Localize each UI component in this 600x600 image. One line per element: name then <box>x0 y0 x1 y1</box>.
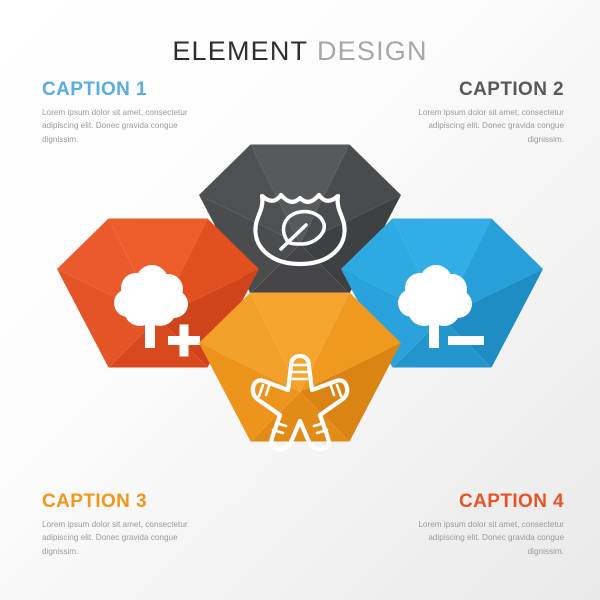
caption-block-2: CAPTION 2 Lorem ipsum dolor sit amet, co… <box>414 80 564 146</box>
caption-4-body: Lorem ipsum dolor sit amet, consectetur … <box>414 518 564 558</box>
caption-1-body: Lorem ipsum dolor sit amet, consectetur … <box>42 106 192 146</box>
caption-2-body: Lorem ipsum dolor sit amet, consectetur … <box>414 106 564 146</box>
caption-3-title: CAPTION 3 <box>42 492 192 512</box>
caption-3-body: Lorem ipsum dolor sit amet, consectetur … <box>42 518 192 558</box>
caption-1-title: CAPTION 1 <box>42 80 192 100</box>
hexagon-bottom-facets <box>199 293 401 442</box>
caption-block-3: CAPTION 3 Lorem ipsum dolor sit amet, co… <box>42 492 192 558</box>
caption-4-title: CAPTION 4 <box>414 492 564 512</box>
hexagon-bottom[interactable] <box>199 293 401 450</box>
infographic-canvas: ELEMENT DESIGN <box>0 0 600 600</box>
caption-block-4: CAPTION 4 Lorem ipsum dolor sit amet, co… <box>414 492 564 558</box>
caption-block-1: CAPTION 1 Lorem ipsum dolor sit amet, co… <box>42 80 192 146</box>
caption-2-title: CAPTION 2 <box>414 80 564 100</box>
